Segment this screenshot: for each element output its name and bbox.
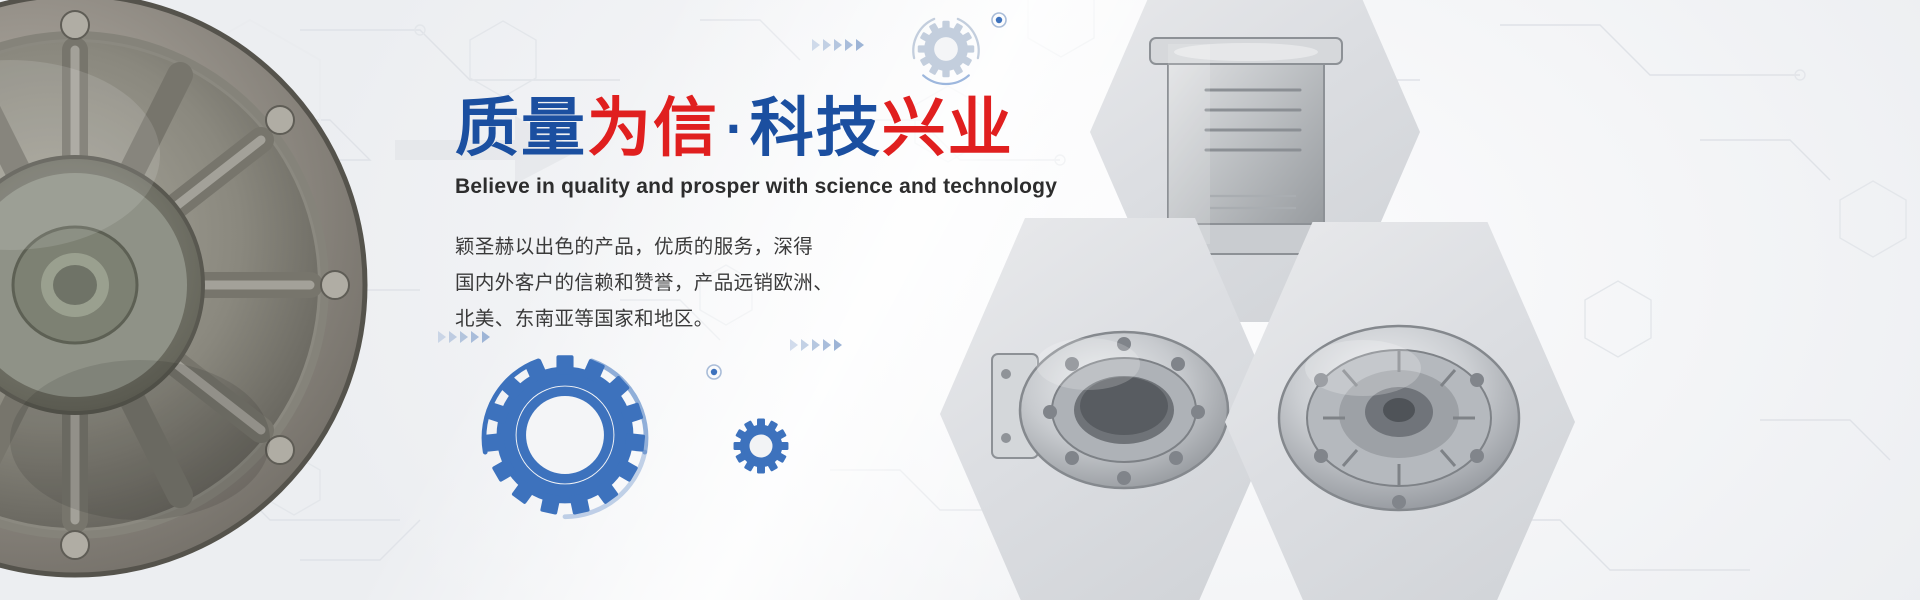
chevron-cluster-icon [812, 38, 870, 52]
banner-description: 颖圣赫以出色的产品，优质的服务，深得 国内外客户的信赖和赞誉，产品远销欧洲、 北… [455, 229, 1055, 337]
gear-top-icon [905, 8, 987, 90]
description-line-1: 颖圣赫以出色的产品，优质的服务，深得 [455, 229, 1055, 265]
headline-separator-dot: · [719, 104, 750, 155]
page-title: 质量为信·科技兴业 [455, 96, 1055, 163]
gear-large-icon [470, 340, 660, 530]
headline-part-2: 为信 [587, 92, 719, 166]
page-subtitle: Believe in quality and prosper with scie… [455, 175, 1055, 199]
headline-part-3: 科技 [750, 92, 882, 166]
ring-dot-icon [991, 12, 1007, 28]
headline-part-1: 质量 [455, 92, 587, 166]
description-line-2: 国内外客户的信赖和赞誉，产品远销欧洲、 [455, 265, 1055, 301]
description-line-3: 北美、东南亚等国家和地区。 [455, 301, 1055, 337]
chevron-cluster-icon [790, 338, 848, 352]
headline-part-4: 兴业 [882, 92, 1014, 166]
ring-dot-icon [706, 364, 722, 380]
promo-banner: 质量为信·科技兴业 Believe in quality and prosper… [0, 0, 1920, 600]
gear-small-icon [730, 415, 792, 477]
hero-cast-wheel-photo [0, 0, 410, 600]
banner-copy-block: 质量为信·科技兴业 Believe in quality and prosper… [455, 96, 1055, 337]
